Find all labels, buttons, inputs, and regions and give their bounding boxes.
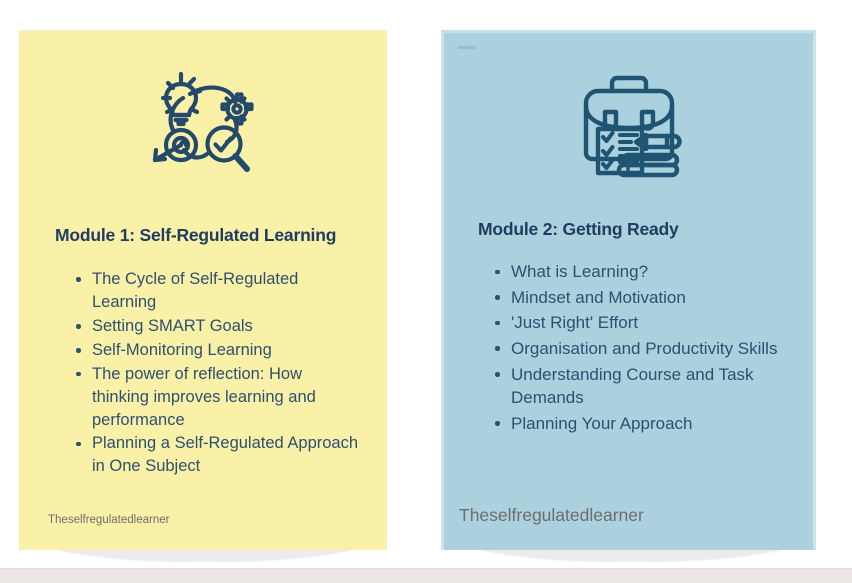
list-item[interactable]: Organisation and Productivity Skills: [494, 337, 791, 361]
module-card-2[interactable]: Module 2: Getting Ready What is Learning…: [441, 30, 816, 566]
list-item[interactable]: Planning Your Approach: [494, 412, 791, 436]
list-item[interactable]: The Cycle of Self-Regulated Learning: [75, 268, 361, 314]
module-1-card-body: Module 1: Self-Regulated Learning The Cy…: [19, 30, 387, 550]
module-card-1[interactable]: Module 1: Self-Regulated Learning The Cy…: [19, 30, 387, 566]
list-item[interactable]: Mindset and Motivation: [494, 286, 791, 310]
briefcase-checklist-pencil-books-icon: [568, 63, 690, 181]
list-item[interactable]: Setting SMART Goals: [75, 315, 361, 338]
module-2-card-body: Module 2: Getting Ready What is Learning…: [441, 30, 816, 550]
module-2-title: Module 2: Getting Ready: [478, 219, 791, 240]
lightbulb-gear-target-magnifier-cycle-icon: [143, 68, 263, 180]
list-item[interactable]: Understanding Course and Task Demands: [494, 363, 791, 410]
list-item[interactable]: 'Just Right' Effort: [494, 311, 791, 335]
module-2-topic-list: What is Learning? Mindset and Motivation…: [494, 260, 791, 435]
module-1-footer-brand: Theselfregulatedlearner: [48, 514, 169, 526]
list-item[interactable]: Self-Monitoring Learning: [75, 339, 361, 362]
module-2-footer-brand: Theselfregulatedlearner: [459, 505, 644, 526]
module-1-title: Module 1: Self-Regulated Learning: [55, 225, 361, 246]
list-item[interactable]: Planning a Self-Regulated Approach in On…: [75, 432, 361, 478]
module-2-icon-container: [466, 33, 791, 197]
page-bottom-band: [0, 568, 852, 583]
module-1-topic-list: The Cycle of Self-Regulated Learning Set…: [75, 268, 361, 478]
list-item[interactable]: The power of reflection: How thinking im…: [75, 363, 361, 432]
list-item[interactable]: What is Learning?: [494, 260, 791, 284]
module-1-icon-container: [45, 33, 361, 199]
faint-mark-decoration: [458, 46, 476, 49]
